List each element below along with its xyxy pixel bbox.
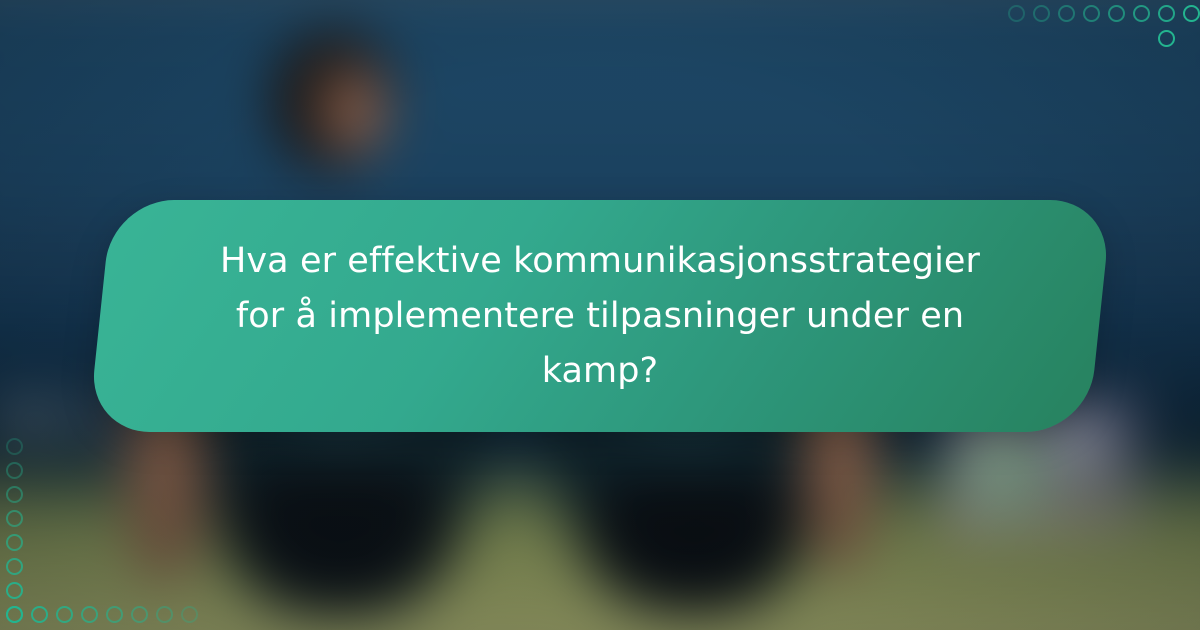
decor-circle <box>1008 5 1025 22</box>
decor-circle <box>1058 5 1075 22</box>
decor-circle <box>1183 5 1200 22</box>
decor-circle <box>156 606 173 623</box>
decor-circle <box>6 462 23 479</box>
decor-circle <box>56 606 73 623</box>
decor-circle <box>6 606 23 623</box>
decor-circle <box>6 438 23 455</box>
decor-circle <box>1108 5 1125 22</box>
decor-circle <box>31 606 48 623</box>
decor-circle <box>81 606 98 623</box>
decor-circle <box>1033 5 1050 22</box>
decor-circle <box>6 534 23 551</box>
decor-circle <box>1083 5 1100 22</box>
decor-circle <box>6 486 23 503</box>
quote-text: Hva er effektive kommunikasjonsstrategie… <box>205 234 995 399</box>
quote-text-container: Hva er effektive kommunikasjonsstrategie… <box>100 200 1100 432</box>
decor-circle <box>1158 5 1175 22</box>
decor-circle <box>6 582 23 599</box>
decor-circle <box>181 606 198 623</box>
screenshot-canvas: Hva er effektive kommunikasjonsstrategie… <box>0 0 1200 630</box>
decor-circle <box>1158 30 1175 47</box>
decor-circle <box>6 510 23 527</box>
decor-circle <box>106 606 123 623</box>
decor-circle <box>6 558 23 575</box>
decor-circle <box>131 606 148 623</box>
decor-circle <box>1133 5 1150 22</box>
